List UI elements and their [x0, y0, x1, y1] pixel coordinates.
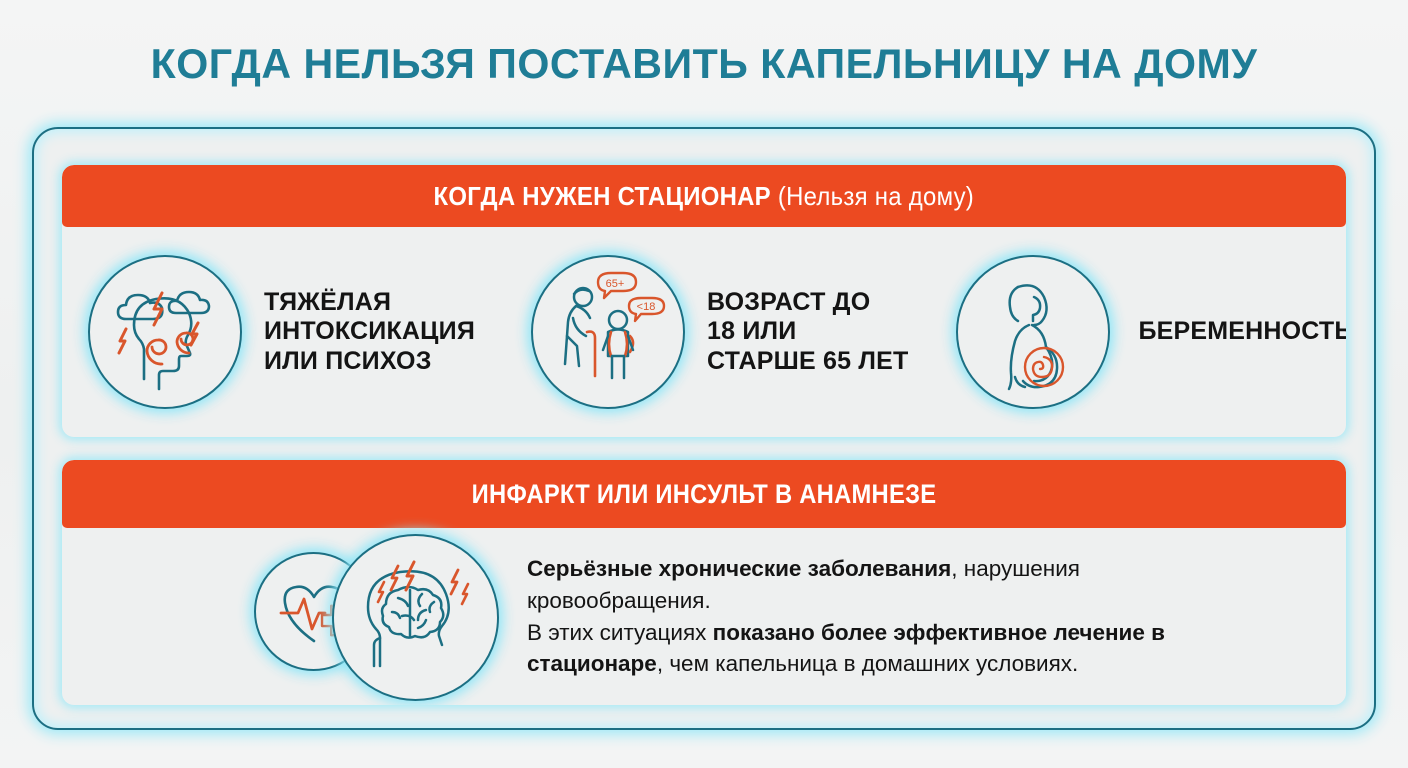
- bottom-card-text: Серьёзные хронические заболевания, наруш…: [527, 553, 1267, 681]
- item-age: 65+ <18 ВОЗРАСТ ДО 18 ИЛИ СТАРШЕ 65 ЛЕТ: [531, 255, 908, 409]
- p1-bold: Серьёзные хронические заболевания: [527, 556, 951, 581]
- p2-tail: , чем капельница в домашних условиях.: [657, 651, 1078, 676]
- card-hospital-required: КОГДА НУЖЕН СТАЦИОНАР (Нельзя на дому): [62, 165, 1346, 437]
- badge-65-plus: 65+: [606, 278, 625, 290]
- elderly-and-child-age-icon: 65+ <18: [531, 255, 685, 409]
- page-title: КОГДА НЕЛЬЗЯ ПОСТАВИТЬ КАПЕЛЬНИЦУ НА ДОМ…: [14, 40, 1394, 88]
- bottom-card-header-bar: ИНФАРКТ ИЛИ ИНСУЛЬТ В АНАМНЕЗЕ: [62, 460, 1346, 528]
- top-card-header-strong: КОГДА НУЖЕН СТАЦИОНАР: [434, 181, 771, 211]
- card-infarction-stroke: ИНФАРКТ ИЛИ ИНСУЛЬТ В АНАМНЕЗЕ: [62, 460, 1346, 705]
- p2-lead: В этих ситуациях: [527, 620, 713, 645]
- badge-under-18: <18: [637, 301, 656, 313]
- top-card-header-light: (Нельзя на дому): [771, 181, 974, 211]
- item-intoxication-label: ТЯЖЁЛАЯ ИНТОКСИКАЦИЯ ИЛИ ПСИХОЗ: [264, 288, 475, 377]
- pregnant-woman-icon: [956, 255, 1110, 409]
- infographic-page: КОГДА НЕЛЬЗЯ ПОСТАВИТЬ КАПЕЛЬНИЦУ НА ДОМ…: [0, 0, 1408, 768]
- brain-head-stroke-icon: [332, 534, 499, 701]
- bottom-card-header-text: ИНФАРКТ ИЛИ ИНСУЛЬТ В АНАМНЕЗЕ: [472, 479, 937, 510]
- bottom-card-paragraph-1: Серьёзные хронические заболевания, наруш…: [527, 553, 1267, 617]
- item-intoxication: ТЯЖЁЛАЯ ИНТОКСИКАЦИЯ ИЛИ ПСИХОЗ: [88, 255, 475, 409]
- bottom-card-paragraph-2: В этих ситуациях показано более эффектив…: [527, 617, 1267, 681]
- top-card-header-text: КОГДА НУЖЕН СТАЦИОНАР (Нельзя на дому): [434, 181, 975, 212]
- top-card-items-row: ТЯЖЁЛАЯ ИНТОКСИКАЦИЯ ИЛИ ПСИХОЗ: [62, 227, 1346, 437]
- bottom-card-icon-group: [254, 534, 499, 699]
- item-pregnancy: БЕРЕМЕННОСТЬ: [956, 255, 1346, 409]
- top-card-header-bar: КОГДА НУЖЕН СТАЦИОНАР (Нельзя на дому): [62, 165, 1346, 227]
- bottom-card-body: Серьёзные хронические заболевания, наруш…: [62, 528, 1346, 705]
- item-pregnancy-label: БЕРЕМЕННОСТЬ: [1138, 317, 1346, 347]
- item-age-label: ВОЗРАСТ ДО 18 ИЛИ СТАРШЕ 65 ЛЕТ: [707, 288, 908, 377]
- head-intoxication-psychosis-icon: [88, 255, 242, 409]
